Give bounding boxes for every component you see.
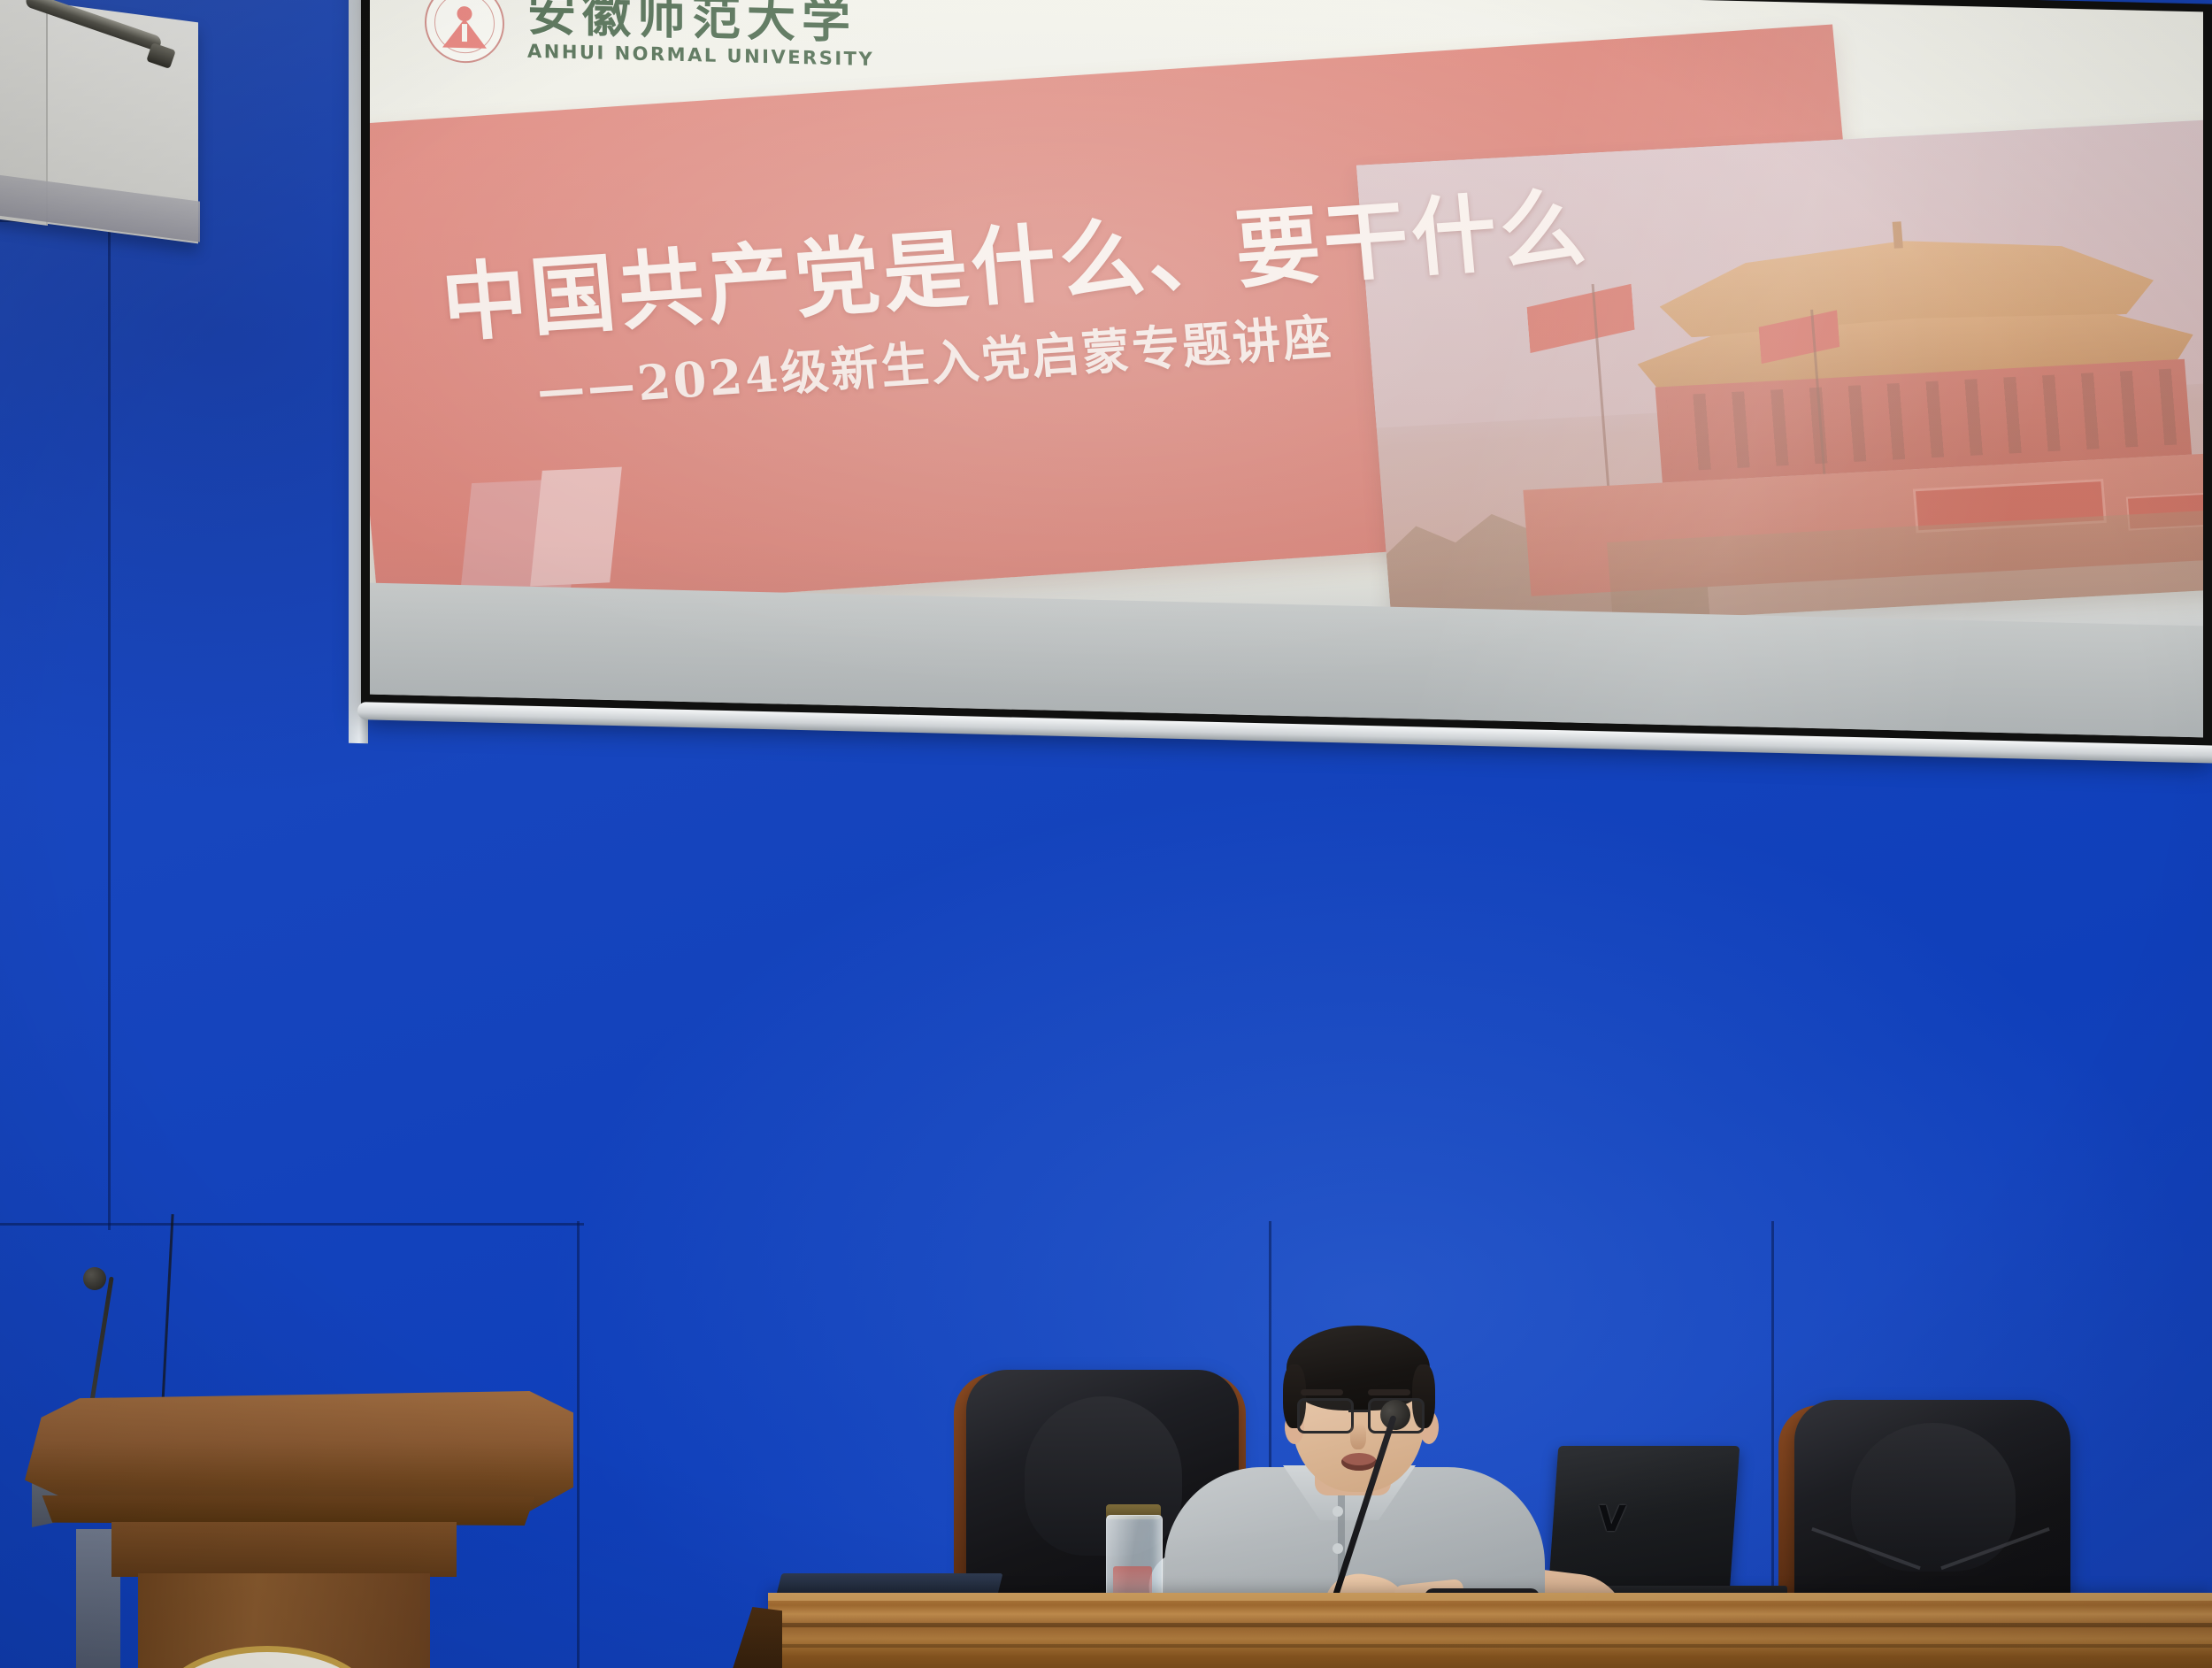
presenter-shirt-button [1333, 1506, 1343, 1517]
speaker-podium: 师大 [25, 1391, 573, 1668]
presenter-shirt-button [1333, 1543, 1343, 1554]
wall-seam [108, 159, 111, 1230]
presenter-eyebrow-left [1301, 1389, 1343, 1395]
desk-groove [768, 1644, 2212, 1648]
podium-lip [32, 1495, 545, 1526]
presentation-slide: 中国共产党是什么、要干什么 ——2024级新生入党启蒙专题讲座 安徽师范大学 A… [370, 0, 2203, 737]
glasses-bridge [1348, 1410, 1368, 1412]
podium-top [25, 1391, 573, 1511]
university-logo-block: 安徽师范大学 ANHUI NORMAL UNIVERSITY [425, 0, 874, 73]
anhui-normal-university-seal-icon [425, 0, 504, 64]
glasses-lens-left [1297, 1398, 1354, 1434]
desk-groove [768, 1623, 2212, 1627]
presenter-mouth [1341, 1453, 1377, 1471]
university-name-cn: 安徽师范大学 [527, 0, 874, 45]
wall-seam [0, 1223, 584, 1226]
decorative-block-b [530, 467, 622, 587]
presenter-eyebrow-right [1368, 1389, 1410, 1395]
podium-neck [111, 1522, 457, 1577]
projection-screen: 中国共产党是什么、要干什么 ——2024级新生入党启蒙专题讲座 安徽师范大学 A… [361, 0, 1361, 743]
podium-emblem-text: 师大 [165, 1664, 369, 1668]
presenter-nose [1350, 1423, 1366, 1449]
desk-top-edge [768, 1593, 2212, 1601]
presiding-desk [768, 1593, 2212, 1668]
laptop-logo-icon: V [1597, 1504, 1629, 1534]
wall-seam [577, 1221, 580, 1668]
lecture-hall-scene: 中国共产党是什么、要干什么 ——2024级新生入党启蒙专题讲座 安徽师范大学 A… [0, 0, 2212, 1668]
podium-microphone-icon [83, 1267, 106, 1290]
water-bottle-label [1113, 1566, 1152, 1596]
seal-notch [462, 24, 467, 42]
